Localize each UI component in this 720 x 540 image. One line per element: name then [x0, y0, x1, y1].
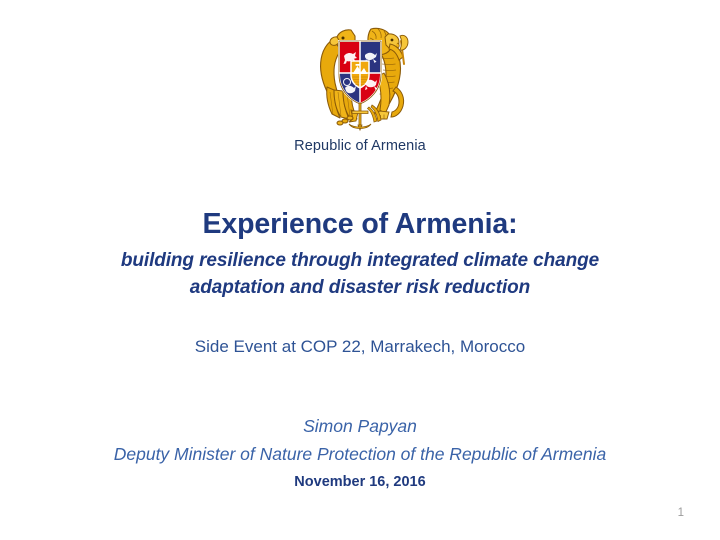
slide-number: 1: [678, 507, 684, 519]
country-label: Republic of Armenia: [0, 138, 720, 154]
page-title: Experience of Armenia:: [0, 208, 720, 242]
title-block: Experience of Armenia: building resilien…: [0, 208, 720, 302]
emblem-container: [0, 12, 720, 137]
title-slide: Republic of Armenia Experience of Armeni…: [0, 0, 720, 540]
presenter-name: Simon Papyan: [0, 412, 720, 440]
presenter-block: Simon Papyan Deputy Minister of Nature P…: [0, 412, 720, 490]
event-line: Side Event at COP 22, Marrakech, Morocco: [0, 337, 720, 357]
armenia-coat-of-arms-emblem: [301, 12, 419, 132]
subtitle-line-1: building resilience through integrated c…: [0, 248, 720, 275]
presentation-date: November 16, 2016: [0, 474, 720, 490]
presenter-role: Deputy Minister of Nature Protection of …: [0, 440, 720, 468]
subtitle-line-2: adaptation and disaster risk reduction: [0, 275, 720, 302]
